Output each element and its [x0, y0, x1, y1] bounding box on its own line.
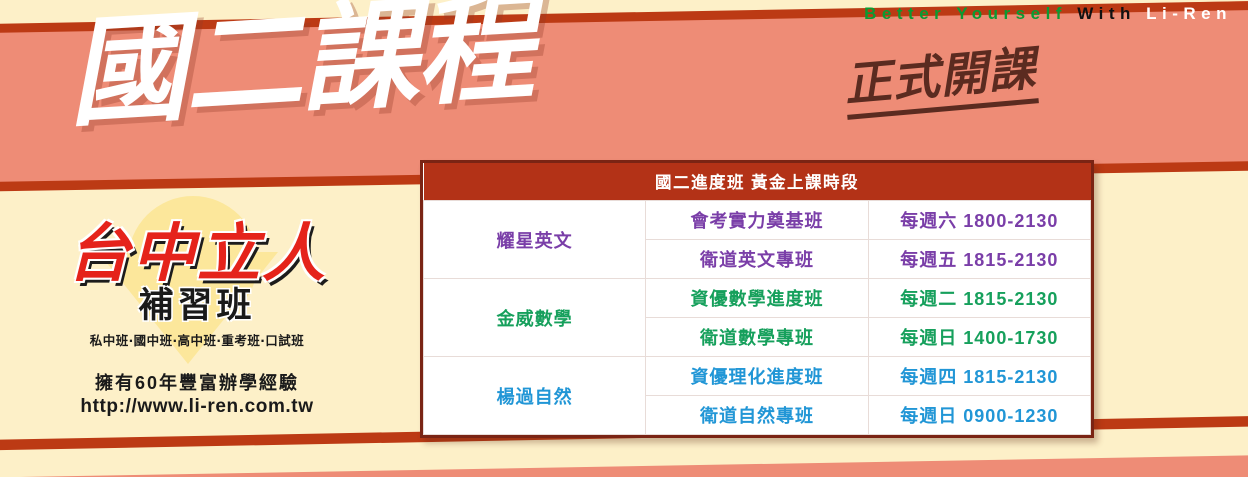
logo-brand-name: 台中立人 — [32, 220, 362, 286]
class-time-cell: 每週六 1800-2130 — [868, 201, 1090, 240]
logo: 台中立人 補習班 私中班‧國中班‧高中班‧重考班‧口試班 擁有60年豐富辦學經驗… — [32, 192, 362, 420]
logo-class-tags: 私中班‧國中班‧高中班‧重考班‧口試班 — [32, 330, 362, 349]
class-time-cell: 每週五 1815-2130 — [868, 240, 1090, 279]
course-promo-banner: Better Yourself With Li-Ren 國二課程 正式開課 台中… — [0, 0, 1248, 477]
table-row: 楊過自然資優理化進度班每週四 1815-2130 — [424, 357, 1091, 396]
subject-cell: 耀星英文 — [424, 201, 646, 279]
subject-cell: 金威數學 — [424, 279, 646, 357]
course-name-cell: 衛道數學專班 — [646, 318, 868, 357]
table-row: 耀星英文會考實力奠基班每週六 1800-2130 — [424, 201, 1091, 240]
class-time-cell: 每週日 1400-1730 — [868, 318, 1090, 357]
subject-cell: 楊過自然 — [424, 357, 646, 435]
schedule-table: 國二進度班 黃金上課時段 耀星英文會考實力奠基班每週六 1800-2130衛道英… — [423, 163, 1091, 435]
course-name-cell: 衛道自然專班 — [646, 396, 868, 435]
logo-experience-text: 擁有60年豐富辦學經驗 — [32, 371, 362, 395]
tagline-part-better: Better — [864, 4, 946, 23]
schedule-title: 國二進度班 黃金上課時段 — [424, 163, 1091, 201]
logo-website-url[interactable]: http://www.li-ren.com.tw — [32, 395, 362, 420]
course-name-cell: 衛道英文專班 — [646, 240, 868, 279]
class-time-cell: 每週四 1815-2130 — [868, 357, 1090, 396]
tagline-part-liren: Li-Ren — [1146, 4, 1232, 23]
table-row: 金威數學資優數學進度班每週二 1815-2130 — [424, 279, 1091, 318]
page-title: 國二課程 — [64, 0, 535, 140]
class-time-cell: 每週二 1815-2130 — [868, 279, 1090, 318]
course-name-cell: 資優數學進度班 — [646, 279, 868, 318]
course-name-cell: 會考實力奠基班 — [646, 201, 868, 240]
tagline-part-yourself: Yourself — [956, 4, 1067, 23]
schedule-table-container: 國二進度班 黃金上課時段 耀星英文會考實力奠基班每週六 1800-2130衛道英… — [420, 160, 1094, 438]
class-time-cell: 每週日 0900-1230 — [868, 396, 1090, 435]
course-name-cell: 資優理化進度班 — [646, 357, 868, 396]
tagline-part-with: With — [1077, 4, 1136, 23]
table-header-row: 國二進度班 黃金上課時段 — [424, 163, 1091, 201]
schedule-table-body: 耀星英文會考實力奠基班每週六 1800-2130衛道英文專班每週五 1815-2… — [424, 201, 1091, 435]
logo-brand-type: 補習班 — [32, 287, 362, 326]
tagline: Better Yourself With Li-Ren — [864, 2, 1232, 26]
